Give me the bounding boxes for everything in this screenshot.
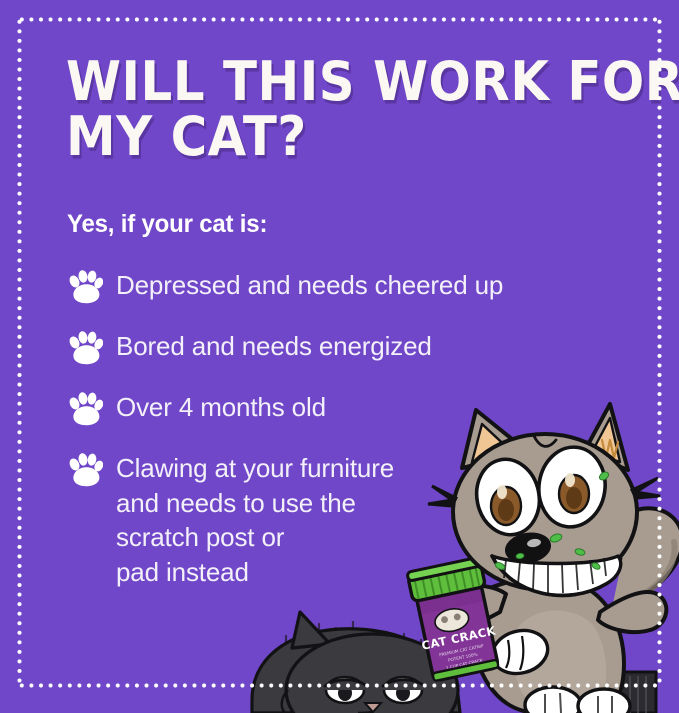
gloom-lines xyxy=(286,622,438,704)
grumpy-black-cat xyxy=(252,612,460,713)
svg-text:CAT CRACK: CAT CRACK xyxy=(420,623,497,653)
list-item-label: Bored and needs energized xyxy=(116,329,432,364)
paw-icon xyxy=(67,453,103,487)
subtitle: Yes, if your cat is: xyxy=(67,209,267,239)
grumpy-eyes xyxy=(325,677,423,703)
list-item-label: Depressed and needs cheered up xyxy=(116,268,503,303)
svg-text:1 CUP CAT CRACK: 1 CUP CAT CRACK xyxy=(445,658,483,671)
list-item-label: Over 4 months old xyxy=(116,390,326,425)
list-item: Bored and needs energized xyxy=(67,329,567,365)
list-item-label: Clawing at your furniture and needs to u… xyxy=(116,451,394,589)
svg-text:PREMIUM CAT CATNIP: PREMIUM CAT CATNIP xyxy=(439,643,485,657)
border-left xyxy=(17,17,22,688)
svg-text:POTENT 100%: POTENT 100% xyxy=(448,652,478,663)
poster-canvas: CAT CRACK PREMIUM CAT CATNIP POTENT 100%… xyxy=(0,0,679,713)
page-title: WILL THIS WORK FOR MY CAT? xyxy=(66,50,606,160)
list-item: Depressed and needs cheered up xyxy=(67,268,567,304)
benefits-list: Depressed and needs cheered up Bored and… xyxy=(67,268,567,589)
list-item: Over 4 months old xyxy=(67,390,567,426)
paw-icon xyxy=(67,392,103,426)
scratch-post-dark xyxy=(598,672,656,713)
list-item: Clawing at your furniture and needs to u… xyxy=(67,451,567,589)
paw-icon xyxy=(67,331,103,365)
border-top xyxy=(17,17,662,22)
border-bottom xyxy=(17,683,662,688)
paw-icon xyxy=(67,270,103,304)
border-right xyxy=(657,17,662,688)
title-line-2: MY CAT? xyxy=(66,105,638,169)
